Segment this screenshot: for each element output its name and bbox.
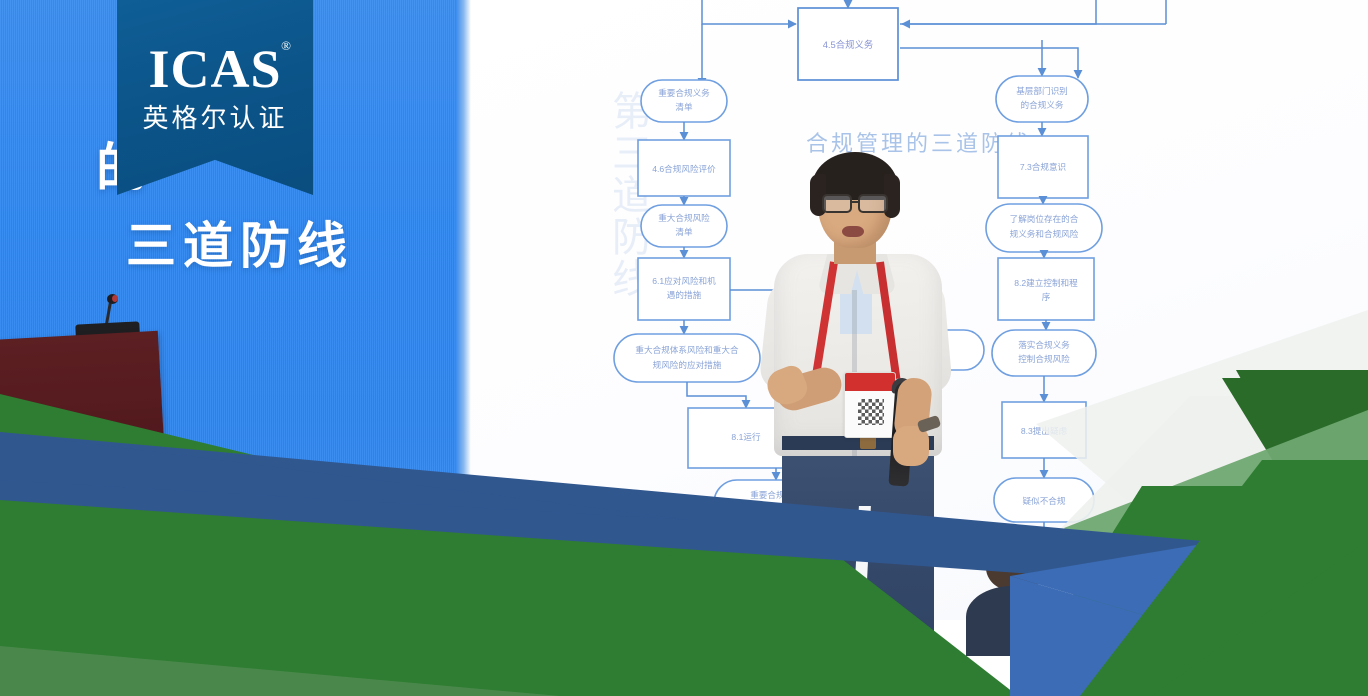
icas-chinese-subtitle: 英格尔认证 (117, 98, 313, 135)
name-badge (844, 372, 896, 438)
svg-text:落实合规义务: 落实合规义务 (1018, 339, 1070, 350)
presenter-mouth (842, 226, 864, 237)
svg-text:控制合规风险: 控制合规风险 (1018, 353, 1070, 364)
svg-text:序: 序 (1042, 291, 1051, 302)
svg-text:的合规义务: 的合规义务 (1021, 99, 1064, 110)
svg-text:重大合规风险: 重大合规风险 (658, 212, 710, 223)
slide-title-line2: 三道防线 (126, 206, 354, 278)
audience-head (1286, 546, 1344, 598)
presenter-figure (760, 150, 990, 620)
eyeglasses-bridge (852, 201, 858, 203)
svg-text:重大合规体系风险和重大合: 重大合规体系风险和重大合 (635, 344, 739, 355)
screenshot-stage: 第三道防线 合规管理的三道防线 .nb { fill:#ffffff; stro… (0, 0, 1368, 696)
eyeglasses-left-lens (822, 194, 852, 213)
svg-text:疑似不合规: 疑似不合规 (1023, 495, 1066, 506)
led-wall-edge (455, 0, 471, 560)
svg-text:规风险的应对措施: 规风险的应对措施 (653, 359, 722, 370)
svg-text:8.1运行: 8.1运行 (731, 431, 761, 442)
badge-header-band (845, 373, 896, 391)
audience-head (986, 534, 1046, 590)
svg-text:遇的措施: 遇的措施 (667, 289, 702, 300)
svg-text:7.3合规意识: 7.3合规意识 (1020, 161, 1067, 172)
svg-text:清单: 清单 (675, 101, 693, 112)
icas-logo-banner: ICAS ® 英格尔认证 (117, 0, 313, 195)
lectern (0, 331, 165, 470)
svg-text:清单: 清单 (675, 226, 693, 237)
svg-text:8.3提出疑虑: 8.3提出疑虑 (1021, 425, 1068, 436)
svg-text:重要合规义务: 重要合规义务 (658, 87, 710, 98)
svg-text:8.2建立控制和程: 8.2建立控制和程 (1014, 277, 1078, 288)
eyeglasses-right-lens (858, 194, 888, 213)
badge-qr-code (858, 399, 884, 425)
audience-body (598, 588, 704, 658)
podium-microphone-windscreen (112, 295, 118, 302)
svg-text:了解岗位存在的合: 了解岗位存在的合 (1010, 213, 1079, 224)
svg-text:4.6合规风险评价: 4.6合规风险评价 (652, 163, 716, 174)
registered-trademark-icon: ® (281, 38, 291, 54)
svg-text:6.1应对风险和机: 6.1应对风险和机 (652, 275, 716, 286)
svg-text:4.5合规义务: 4.5合规义务 (823, 39, 874, 50)
svg-text:规义务和合规风险: 规义务和合规风险 (1010, 228, 1079, 239)
svg-text:基层部门识别: 基层部门识别 (1016, 85, 1068, 96)
audience-head (618, 536, 682, 594)
